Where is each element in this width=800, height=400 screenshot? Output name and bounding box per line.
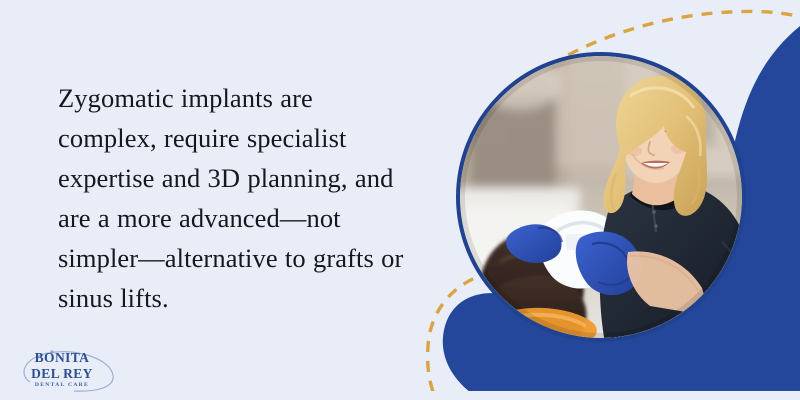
logo-wordmark: BONITA DEL REY DENTAL CARE	[12, 351, 112, 388]
logo-line-1: BONITA	[12, 351, 112, 365]
quote-text: Zygomatic implants are complex, require …	[58, 78, 418, 318]
promo-card: Zygomatic implants are complex, require …	[0, 0, 800, 400]
gold-dashed-arc-bottom-left	[428, 272, 492, 400]
brand-logo[interactable]: BONITA DEL REY DENTAL CARE	[8, 348, 132, 392]
photo-image	[460, 56, 742, 338]
logo-line-2: DEL REY	[12, 367, 112, 381]
photo-illustration	[460, 56, 742, 338]
bottom-background-strip	[0, 391, 800, 400]
quote-block: Zygomatic implants are complex, require …	[58, 78, 418, 318]
logo-tagline: DENTAL CARE	[12, 383, 112, 389]
clinician-photo	[456, 52, 746, 342]
